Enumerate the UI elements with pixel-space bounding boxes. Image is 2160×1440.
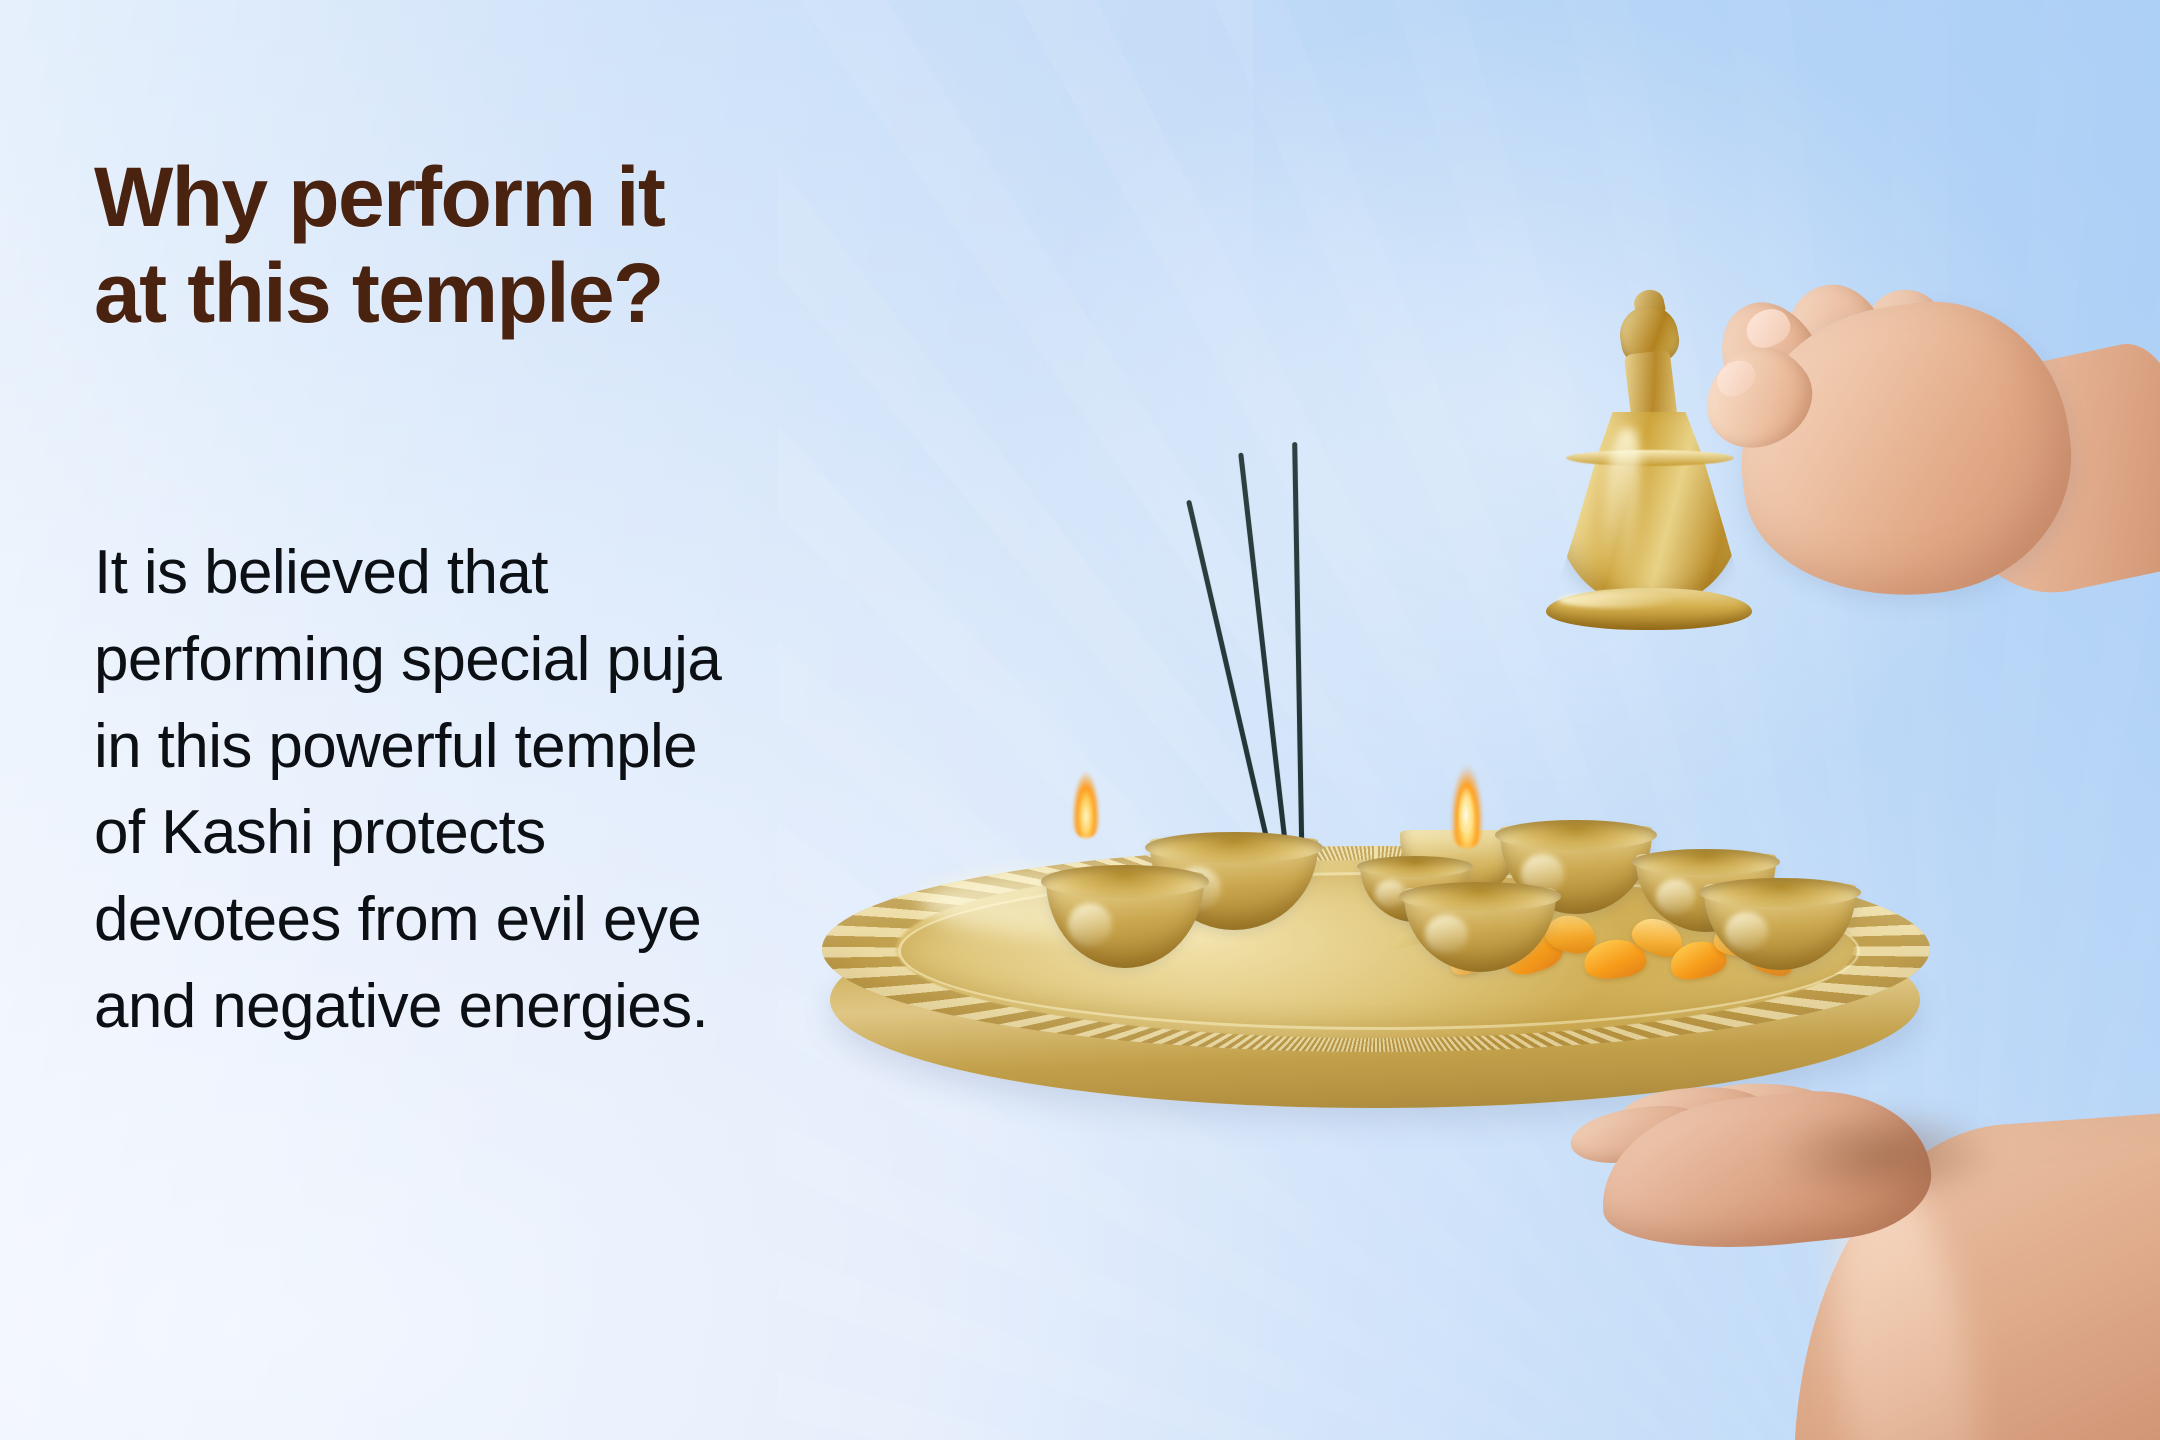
katori-highlight bbox=[1068, 903, 1112, 947]
katori-highlight bbox=[1656, 879, 1695, 915]
slide-canvas: Why perform it at this temple? It is bel… bbox=[0, 0, 2160, 1440]
puja-photo bbox=[1020, 330, 2160, 1440]
upper-hand bbox=[1650, 266, 2120, 686]
katori-highlight bbox=[1725, 912, 1768, 952]
page-title: Why perform it at this temple? bbox=[94, 150, 1034, 342]
katori-bowl bbox=[1704, 884, 1856, 970]
katori-rim bbox=[1495, 820, 1656, 850]
katori-highlight bbox=[1425, 915, 1468, 954]
palm-shadow bbox=[1736, 1100, 2036, 1210]
text-column: Why perform it at this temple? It is bel… bbox=[94, 150, 1034, 342]
katori-rim bbox=[1399, 882, 1560, 911]
katori-rim bbox=[1145, 832, 1323, 863]
katori-bowl bbox=[1046, 872, 1204, 968]
bell-group bbox=[1320, 300, 1880, 840]
katori-rim bbox=[1699, 878, 1860, 907]
katori-rim bbox=[1041, 865, 1208, 898]
katori-bowl bbox=[1404, 888, 1556, 972]
lower-hand bbox=[1540, 1070, 2160, 1440]
katori-rim bbox=[1632, 849, 1780, 876]
katori-rim bbox=[1357, 856, 1474, 877]
